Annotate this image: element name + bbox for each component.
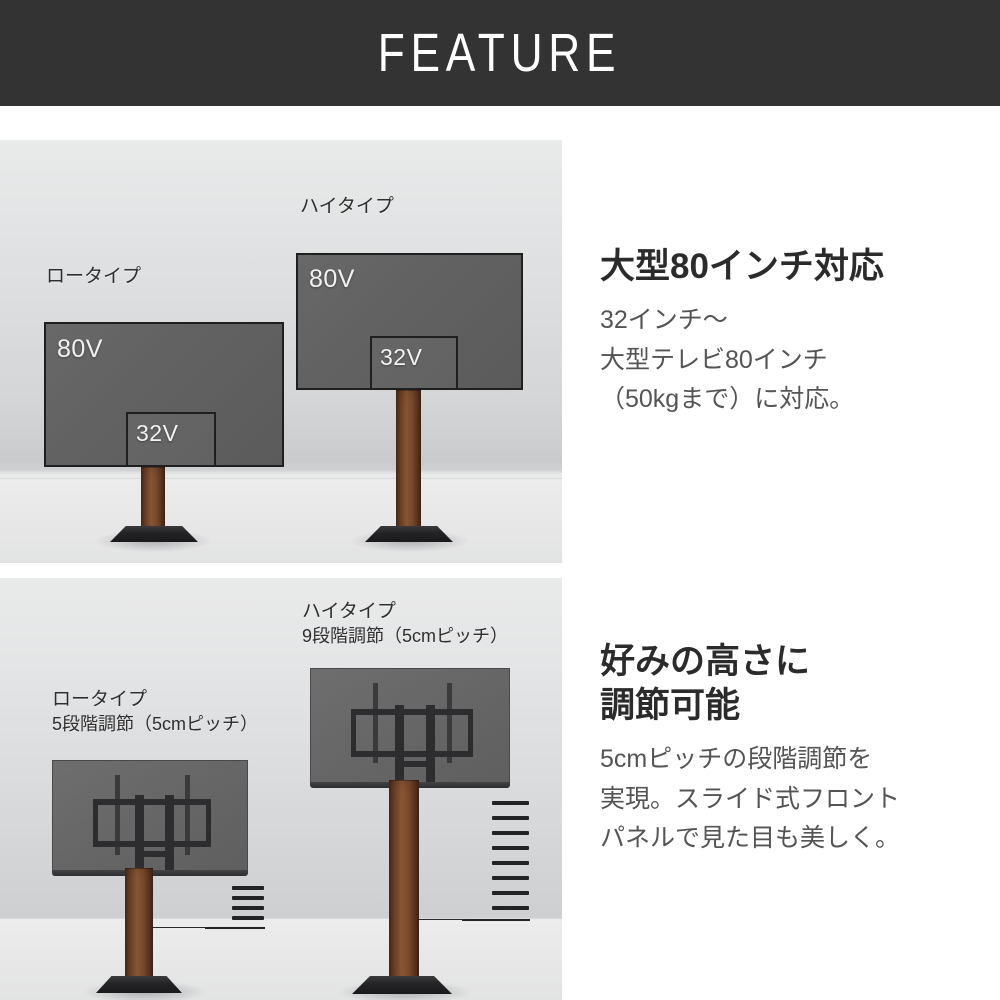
height-tick [492, 861, 529, 865]
bracket-edge-right [468, 709, 473, 757]
feature-illustration-size-comparison: ロータイプ ハイタイプ 80V 32V 80V [0, 140, 562, 563]
floor-surface [0, 918, 562, 1000]
height-tick [492, 891, 529, 895]
height-tick [232, 886, 264, 890]
bracket-arm-top [351, 709, 473, 715]
label-low-type-adjust: 5段階調節（5cmピッチ） [52, 713, 258, 736]
feature-page: FEATURE ロータイプ ハイタイプ 80V 32V [0, 0, 1000, 1000]
screen-back-low [52, 760, 248, 872]
height-tick [232, 896, 264, 900]
bracket-arm-top [93, 799, 211, 805]
label-high-type: ハイタイプ [300, 195, 394, 220]
bracket-arm-bottom [93, 841, 211, 847]
label-low-type: ロータイプ [46, 265, 141, 290]
height-tick-baseline [462, 919, 530, 921]
feature-heading: 大型80インチ対応 [600, 245, 990, 289]
screen-size-tag-80v-low: 80V [57, 335, 103, 364]
feature-body: 5cmピッチの段階調節を 実現。スライド式フロント パネルで見た目も美しく。 [600, 740, 990, 859]
screen-size-tag-32v-high: 32V [380, 344, 422, 371]
feature-illustration-height-steps: ハイタイプ 9段階調節（5cmピッチ） ロータイプ 5段階調節（5cmピッチ） [0, 578, 562, 1000]
bracket-edge-left [351, 709, 356, 757]
feature-heading: 好みの高さに 調節可能 [600, 640, 990, 728]
leader-line-high [419, 919, 465, 920]
label-high-type-adjust: 9段階調節（5cmピッチ） [302, 625, 508, 648]
bracket-edge-right [206, 799, 211, 847]
height-tick [492, 816, 529, 820]
height-tick [492, 831, 529, 835]
feature-copy-height-adjustable: 好みの高さに 調節可能 5cmピッチの段階調節を 実現。スライド式フロント パネ… [600, 578, 990, 1000]
screen-32v-low: 32V [126, 412, 216, 467]
feature-row-height-adjustable: ハイタイプ 9段階調節（5cmピッチ） ロータイプ 5段階調節（5cmピッチ） [0, 578, 1000, 1000]
label-high-type: ハイタイプ [302, 600, 396, 625]
bracket-center-tie [135, 851, 174, 857]
bracket-center-left [395, 705, 404, 785]
screen-size-tag-32v-low: 32V [136, 420, 178, 447]
height-tick [492, 846, 529, 850]
page-title: FEATURE [378, 26, 622, 80]
bracket-center-left [135, 795, 144, 873]
height-tick [492, 876, 529, 880]
label-low-type: ロータイプ [52, 688, 147, 713]
page-header: FEATURE [0, 0, 1000, 106]
feature-row-large-tv-support: ロータイプ ハイタイプ 80V 32V 80V [0, 140, 1000, 563]
screen-32v-high: 32V [370, 336, 458, 390]
bracket-center-right [165, 795, 174, 873]
feature-copy-large-tv-support: 大型80インチ対応 32インチ〜 大型テレビ80インチ （50kgまで）に対応。 [600, 140, 990, 563]
height-tick [492, 906, 529, 910]
floor-surface [0, 478, 562, 563]
bracket-center-tie [395, 761, 435, 767]
height-tick [232, 906, 264, 910]
leader-line-low [153, 927, 208, 928]
bracket-center-right [426, 705, 435, 785]
bracket-arm-bottom [351, 751, 473, 757]
screen-back-high [310, 668, 510, 784]
stand-pole-low [125, 868, 153, 988]
stand-pole-high [396, 390, 421, 537]
height-tick [492, 801, 529, 805]
bracket-edge-left [93, 799, 98, 847]
screen-size-tag-80v-high: 80V [309, 265, 355, 294]
height-tick-baseline [205, 927, 265, 929]
stand-pole-high [389, 780, 419, 988]
height-tick [232, 916, 264, 920]
feature-body: 32インチ〜 大型テレビ80インチ （50kgまで）に対応。 [600, 301, 990, 420]
